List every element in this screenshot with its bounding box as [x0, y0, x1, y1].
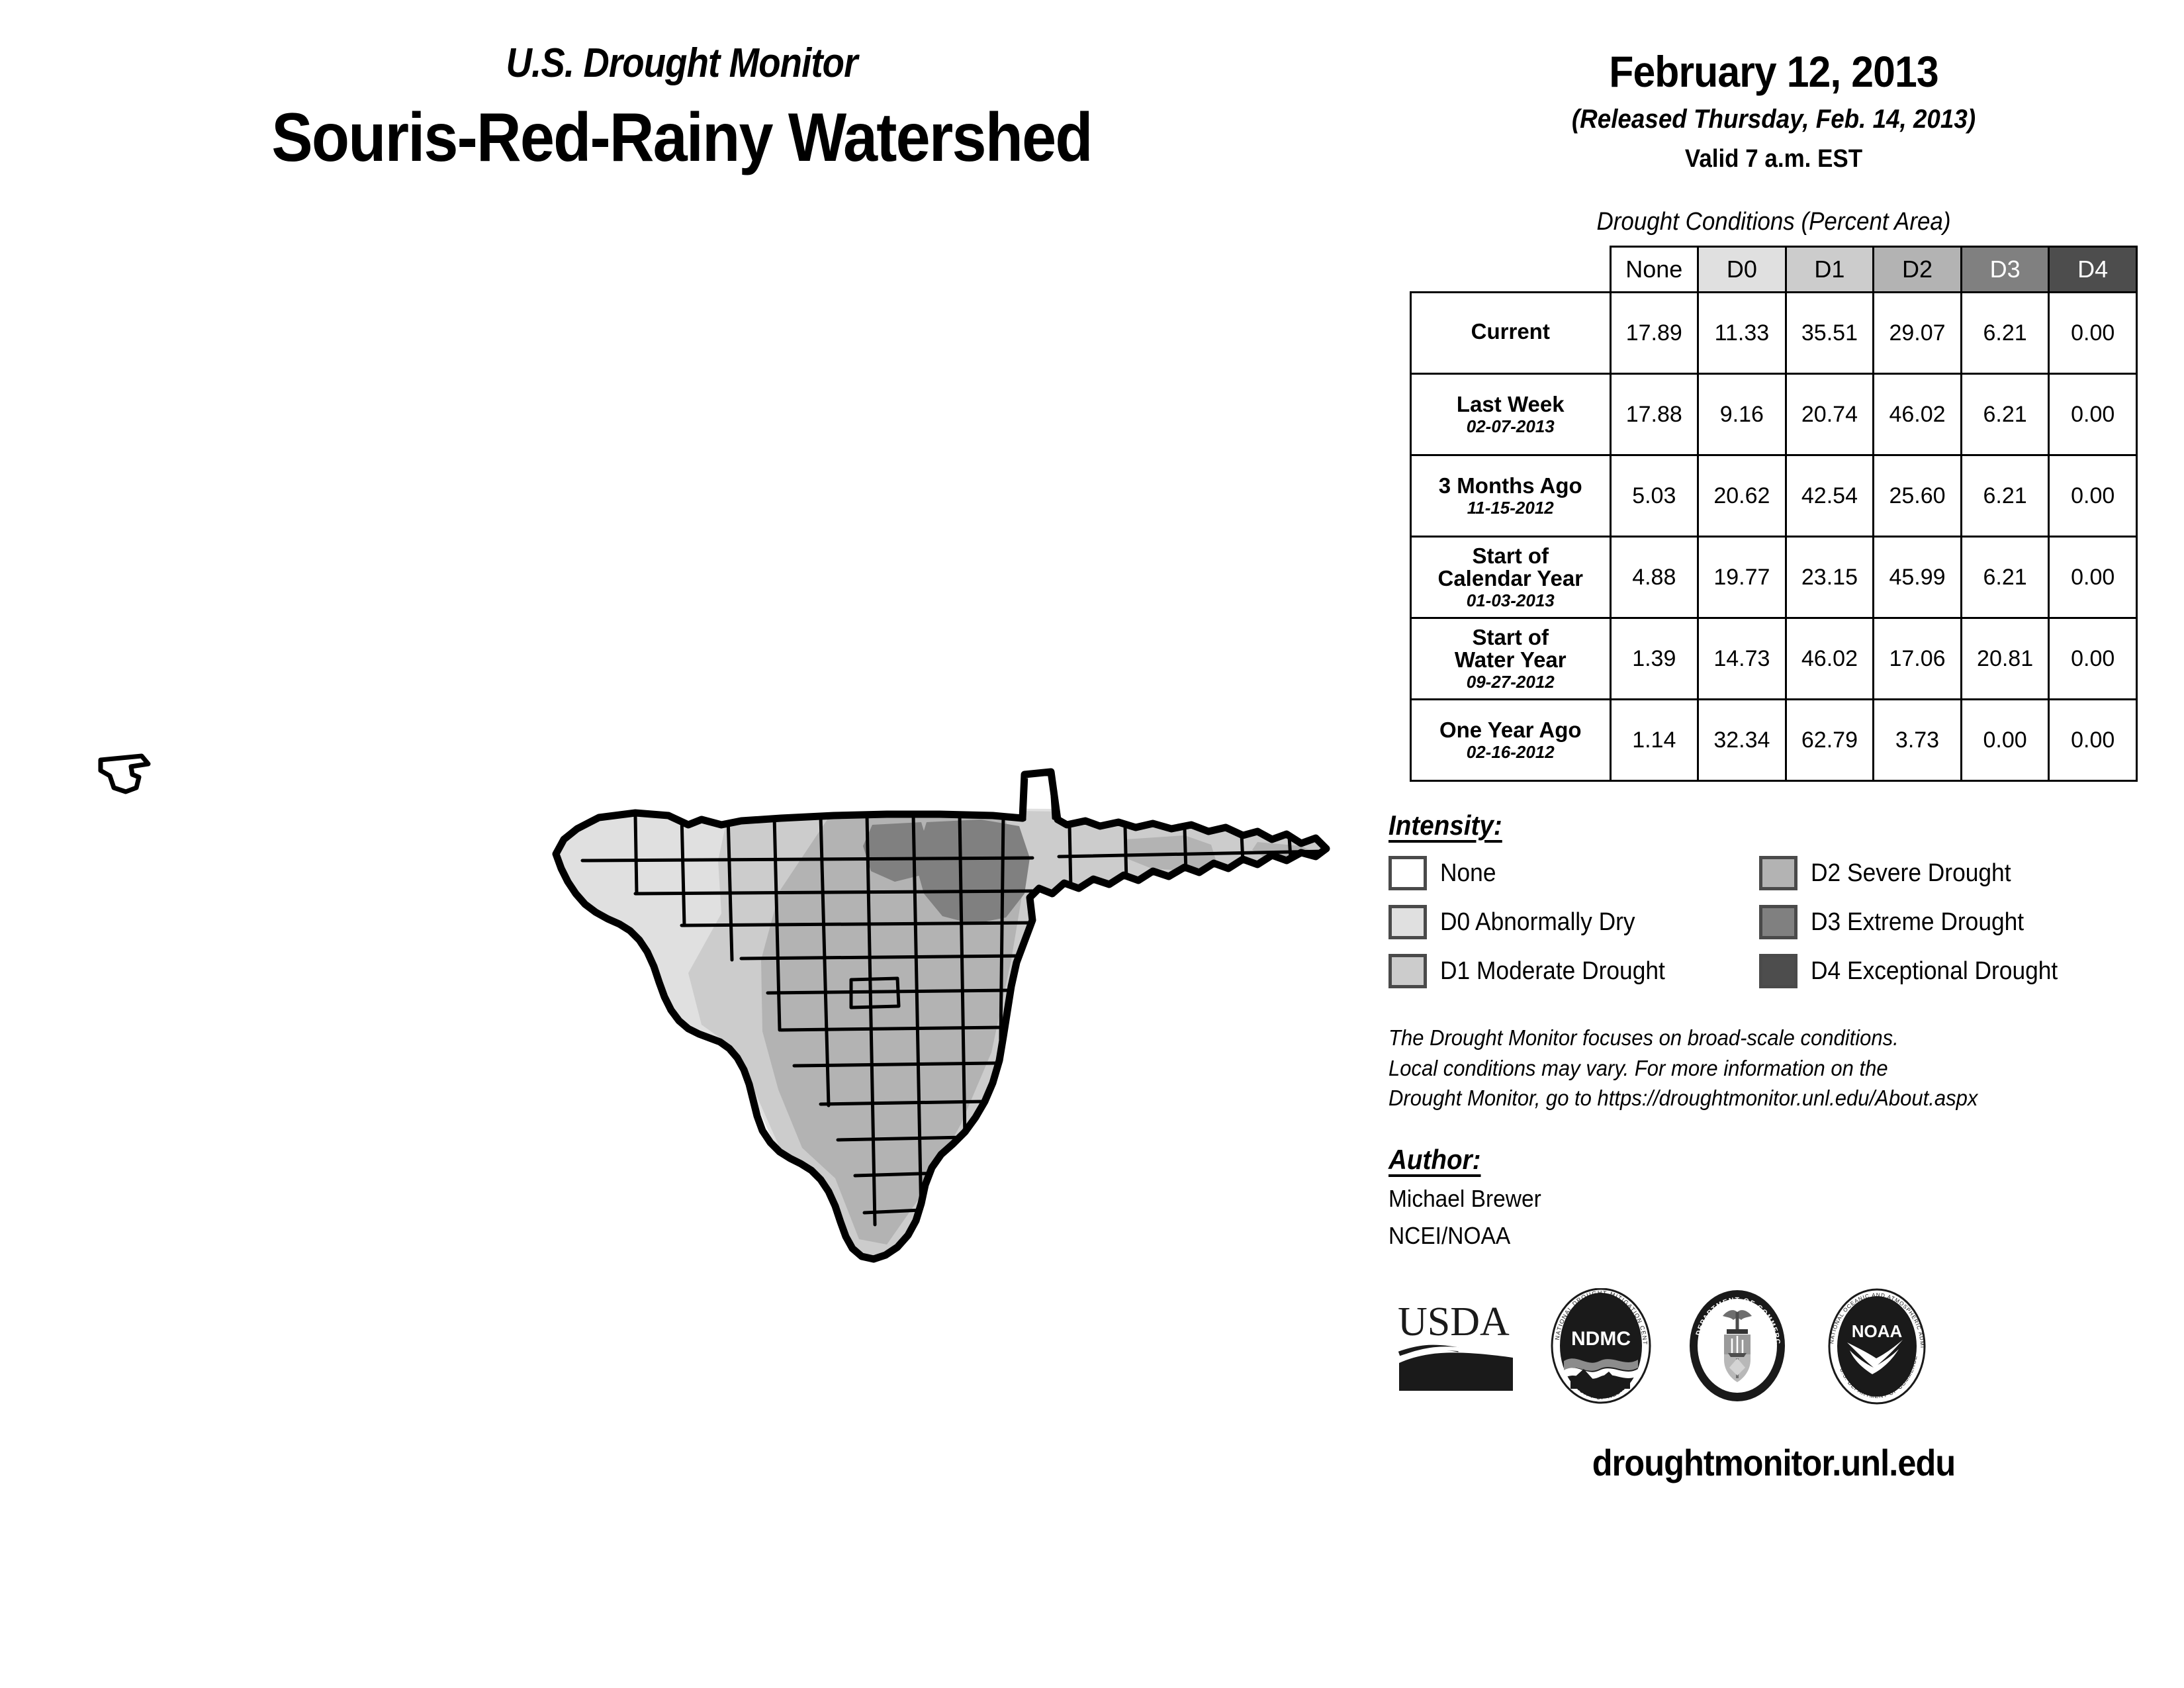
cell-none: 4.88	[1610, 537, 1698, 618]
row-label-text: One Year Ago	[1439, 718, 1582, 742]
ndmc-logo: NATIONAL DROUGHT MITIGATION CENTER UNIVE…	[1548, 1288, 1654, 1407]
legend-item-none: None	[1388, 856, 1759, 890]
column-header-d0: D0	[1698, 247, 1786, 293]
legend-item-d0: D0 Abnormally Dry	[1388, 905, 1759, 939]
cell-d0: 11.33	[1698, 293, 1786, 374]
cell-d2: 25.60	[1874, 455, 1962, 537]
cell-d3: 6.21	[1961, 537, 2049, 618]
legend-swatch-none-icon	[1388, 856, 1427, 890]
row-label-one-year-ago: One Year Ago 02-16-2012	[1411, 700, 1611, 781]
table-row: Current 17.89 11.33 35.51 29.07 6.21 0.0…	[1411, 293, 2137, 374]
disclaimer-line-1: The Drought Monitor focuses on broad-sca…	[1388, 1023, 2136, 1053]
cell-d4: 0.00	[2049, 293, 2137, 374]
row-label-start-of-water-year: Start ofWater Year 09-27-2012	[1411, 618, 1611, 700]
legend-swatch-d4-icon	[1759, 954, 1797, 988]
legend-label-none: None	[1440, 859, 1496, 888]
cell-none: 17.89	[1610, 293, 1698, 374]
legend-swatch-d1-icon	[1388, 954, 1427, 988]
author-block: Author: Michael Brewer NCEI/NOAA	[1388, 1144, 2184, 1250]
svg-text:NOAA: NOAA	[1852, 1321, 1903, 1341]
column-header-d4: D4	[2049, 247, 2137, 293]
cell-d3: 6.21	[1961, 455, 2049, 537]
watershed-map-svg	[0, 695, 1363, 1291]
cell-d4: 0.00	[2049, 455, 2137, 537]
svg-text:USDA: USDA	[1398, 1299, 1510, 1344]
table-row: One Year Ago 02-16-2012 1.14 32.34 62.79…	[1411, 700, 2137, 781]
table-corner-cell	[1411, 247, 1611, 293]
cell-d2: 46.02	[1874, 374, 1962, 455]
noaa-logo: NATIONAL OCEANIC AND ATMOSPHERIC ADMINIS…	[1821, 1287, 1933, 1409]
logo-row: USDA NATIONAL DROUGHT MITIGATION C	[1395, 1287, 2184, 1409]
cell-d0: 32.34	[1698, 700, 1786, 781]
legend-item-d1: D1 Moderate Drought	[1388, 954, 1759, 988]
column-header-d1: D1	[1786, 247, 1874, 293]
drought-monitor-page: U.S. Drought Monitor Souris-Red-Rainy Wa…	[0, 0, 2184, 1688]
disclaimer-line-2: Local conditions may vary. For more info…	[1388, 1053, 2136, 1084]
legend-grid: None D2 Severe Drought D0 Abnormally Dry…	[1388, 856, 2184, 988]
row-label-date: 02-07-2013	[1416, 418, 1606, 436]
report-date: February 12, 2013	[1396, 46, 2152, 97]
table-row: 3 Months Ago 11-15-2012 5.03 20.62 42.54…	[1411, 455, 2137, 537]
row-label-date: 02-16-2012	[1416, 743, 1606, 761]
cell-d3: 6.21	[1961, 293, 2049, 374]
cell-d0: 19.77	[1698, 537, 1786, 618]
cell-d1: 20.74	[1786, 374, 1874, 455]
table-header-row: None D0 D1 D2 D3 D4	[1411, 247, 2137, 293]
legend-label-d1: D1 Moderate Drought	[1440, 957, 1665, 986]
legend-swatch-d0-icon	[1388, 905, 1427, 939]
legend-swatch-d3-icon	[1759, 905, 1797, 939]
cell-d1: 62.79	[1786, 700, 1874, 781]
row-label-date: 09-27-2012	[1416, 673, 1606, 691]
svg-text:NDMC: NDMC	[1571, 1328, 1631, 1350]
footer-url[interactable]: droughtmonitor.unl.edu	[1404, 1441, 2143, 1484]
cell-d0: 14.73	[1698, 618, 1786, 700]
disclaimer: The Drought Monitor focuses on broad-sca…	[1388, 1023, 2136, 1113]
date-block: February 12, 2013 (Released Thursday, Fe…	[1363, 0, 2184, 173]
table-row: Start ofWater Year 09-27-2012 1.39 14.73…	[1411, 618, 2137, 700]
cell-none: 5.03	[1610, 455, 1698, 537]
legend-item-d3: D3 Extreme Drought	[1759, 905, 2184, 939]
release-date: (Released Thursday, Feb. 14, 2013)	[1396, 105, 2152, 134]
cell-d1: 42.54	[1786, 455, 1874, 537]
cell-none: 1.39	[1610, 618, 1698, 700]
cell-d0: 20.62	[1698, 455, 1786, 537]
disclaimer-line-3[interactable]: Drought Monitor, go to https://droughtmo…	[1388, 1083, 2136, 1113]
cell-d1: 46.02	[1786, 618, 1874, 700]
row-label-date: 11-15-2012	[1416, 499, 1606, 517]
author-name: Michael Brewer	[1388, 1185, 2128, 1213]
title-block: U.S. Drought Monitor Souris-Red-Rainy Wa…	[0, 40, 1363, 177]
legend-label-d0: D0 Abnormally Dry	[1440, 908, 1635, 937]
column-header-none: None	[1610, 247, 1698, 293]
row-label-text: 3 Months Ago	[1439, 473, 1582, 498]
column-header-d3: D3	[1961, 247, 2049, 293]
watershed-map[interactable]	[0, 695, 1363, 1291]
legend-item-d4: D4 Exceptional Drought	[1759, 954, 2184, 988]
map-outlier-polygon	[101, 756, 148, 792]
cell-none: 17.88	[1610, 374, 1698, 455]
row-label-date: 01-03-2013	[1416, 592, 1606, 610]
legend-swatch-d2-icon	[1759, 856, 1797, 890]
cell-d1: 35.51	[1786, 293, 1874, 374]
program-title: U.S. Drought Monitor	[82, 40, 1282, 87]
region-title: Souris-Red-Rainy Watershed	[68, 99, 1295, 177]
row-label-3-months-ago: 3 Months Ago 11-15-2012	[1411, 455, 1611, 537]
map-watershed-body	[551, 772, 1337, 1266]
legend-label-d4: D4 Exceptional Drought	[1811, 957, 2058, 986]
row-label-start-of-calendar-year: Start ofCalendar Year 01-03-2013	[1411, 537, 1611, 618]
cell-d3: 20.81	[1961, 618, 2049, 700]
cell-d1: 23.15	[1786, 537, 1874, 618]
cell-none: 1.14	[1610, 700, 1698, 781]
map-drought-bands	[551, 808, 1337, 1266]
cell-d2: 45.99	[1874, 537, 1962, 618]
cell-d4: 0.00	[2049, 374, 2137, 455]
right-panel: February 12, 2013 (Released Thursday, Fe…	[1363, 0, 2184, 1688]
row-label-text: Current	[1471, 319, 1550, 344]
legend-label-d2: D2 Severe Drought	[1811, 859, 2011, 888]
usda-logo: USDA	[1395, 1297, 1518, 1399]
column-header-d2: D2	[1874, 247, 1962, 293]
valid-time: Valid 7 a.m. EST	[1396, 145, 2152, 173]
cell-d2: 3.73	[1874, 700, 1962, 781]
row-label-last-week: Last Week 02-07-2013	[1411, 374, 1611, 455]
row-label-text: Last Week	[1457, 392, 1565, 416]
table-body: Current 17.89 11.33 35.51 29.07 6.21 0.0…	[1411, 293, 2137, 781]
cell-d2: 29.07	[1874, 293, 1962, 374]
row-label-text: Start ofCalendar Year	[1437, 543, 1583, 590]
cell-d4: 0.00	[2049, 700, 2137, 781]
drought-conditions-table: None D0 D1 D2 D3 D4 Current 17.89 11.33	[1410, 246, 2138, 782]
row-label-current: Current	[1411, 293, 1611, 374]
table-caption: Drought Conditions (Percent Area)	[1396, 208, 2152, 236]
cell-d4: 0.00	[2049, 537, 2137, 618]
cell-d0: 9.16	[1698, 374, 1786, 455]
table-row: Last Week 02-07-2013 17.88 9.16 20.74 46…	[1411, 374, 2137, 455]
legend-label-d3: D3 Extreme Drought	[1811, 908, 2024, 937]
cell-d3: 0.00	[1961, 700, 2049, 781]
author-affiliation: NCEI/NOAA	[1388, 1222, 2128, 1250]
legend-item-d2: D2 Severe Drought	[1759, 856, 2184, 890]
cell-d3: 6.21	[1961, 374, 2049, 455]
row-label-text: Start ofWater Year	[1455, 625, 1567, 672]
intensity-legend: Intensity: None D2 Severe Drought D0 Abn…	[1388, 810, 2184, 988]
author-title: Author:	[1388, 1144, 1480, 1176]
intensity-title: Intensity:	[1388, 810, 1502, 841]
cell-d4: 0.00	[2049, 618, 2137, 700]
table-header: None D0 D1 D2 D3 D4	[1411, 247, 2137, 293]
table-row: Start ofCalendar Year 01-03-2013 4.88 19…	[1411, 537, 2137, 618]
cell-d2: 17.06	[1874, 618, 1962, 700]
doc-logo: DEPARTMENT OF COMMERCE UNITED STATES OF …	[1684, 1288, 1790, 1407]
